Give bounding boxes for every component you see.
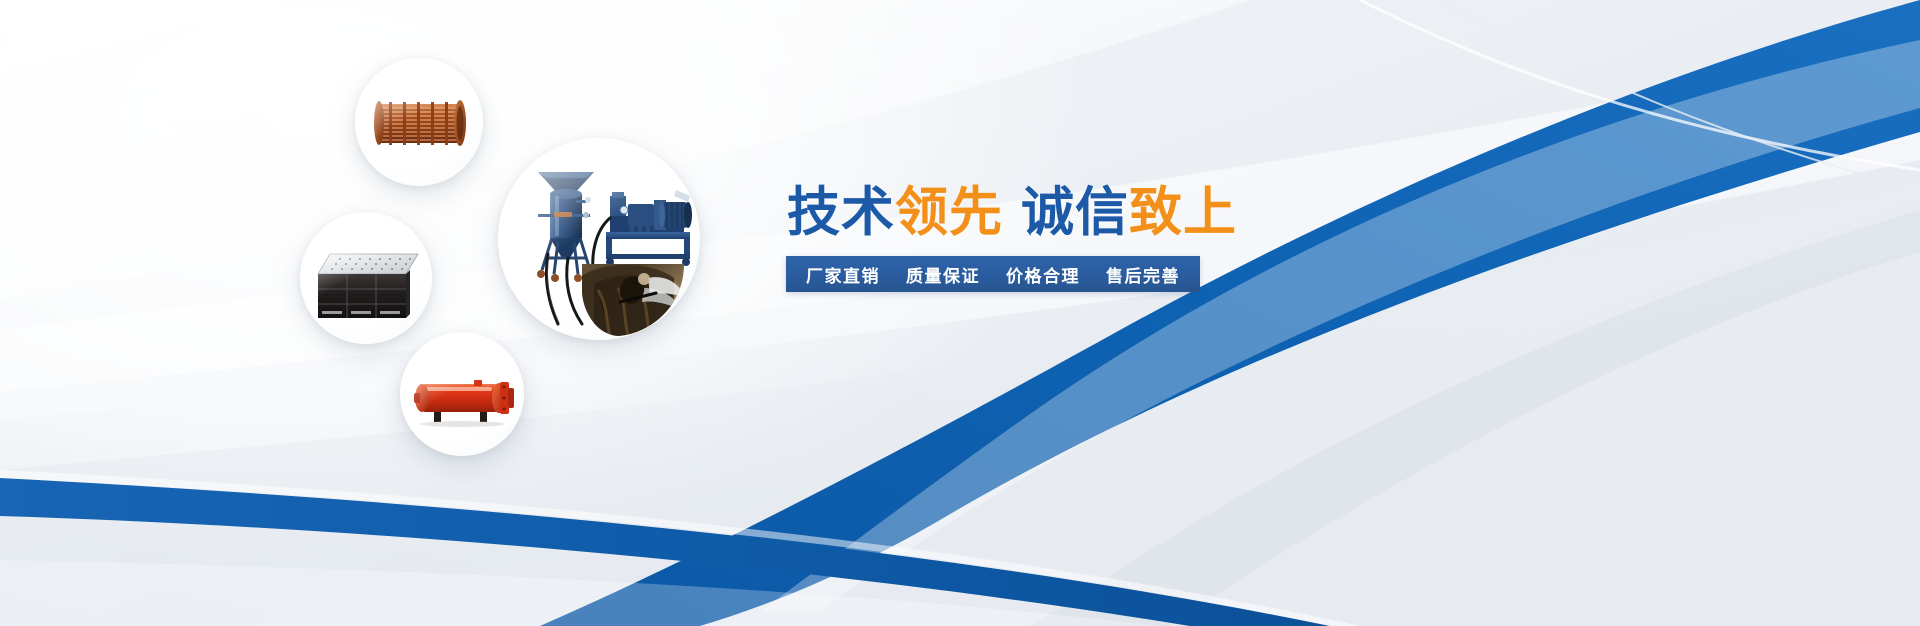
pressure-vessel-icon (400, 332, 524, 456)
tagline-item-2: 质量保证 (906, 262, 980, 287)
tagline-item-3: 价格合理 (1006, 262, 1080, 287)
tube-sheet-plate-icon (300, 212, 432, 344)
copper-tube-bundle-icon (355, 58, 483, 186)
tagline-item-4: 售后完善 (1106, 262, 1180, 287)
product-circle-copper-tube-bundle (355, 58, 483, 186)
tagline-item-1: 厂家直销 (806, 262, 880, 287)
product-circle-pressure-vessel (400, 332, 524, 456)
product-circle-sandblasting-unit (498, 138, 700, 340)
background-decoration (0, 0, 1920, 626)
hero-banner: 技术领先诚信致上 厂家直销 质量保证 价格合理 售后完善 (0, 0, 1920, 626)
headline-segment-2: 领先 (895, 183, 1003, 242)
tagline-bar: 厂家直销 质量保证 价格合理 售后完善 (786, 256, 1200, 292)
headline-segment-4: 致上 (1129, 183, 1237, 242)
headline-segment-1: 技术 (787, 183, 895, 242)
product-circle-tube-sheet-plate (300, 212, 432, 344)
page-title: 技术领先诚信致上 (787, 186, 1237, 239)
sandblasting-unit-icon (498, 138, 700, 340)
headline-segment-3: 诚信 (1021, 183, 1129, 242)
